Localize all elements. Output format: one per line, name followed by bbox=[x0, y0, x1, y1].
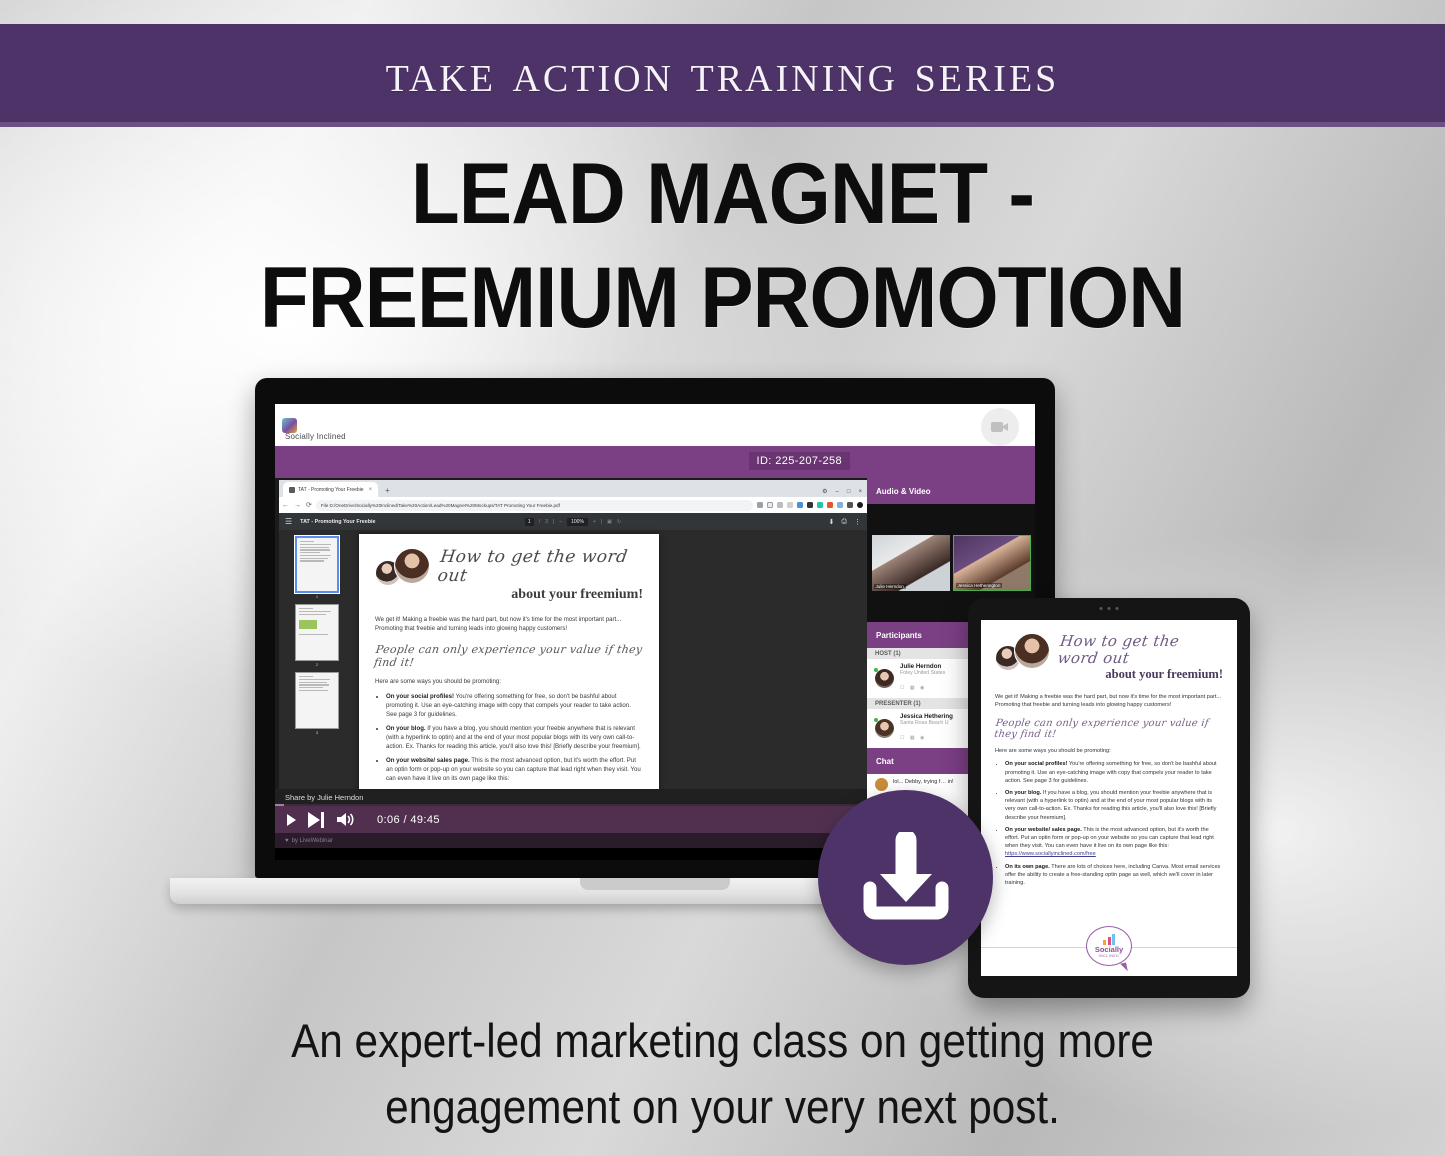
list-item: On your social profiles! You're offering… bbox=[386, 692, 643, 719]
next-track-icon[interactable] bbox=[308, 812, 325, 828]
window-controls[interactable]: ⚙ – □ × bbox=[822, 488, 862, 495]
brand-logo-icon bbox=[282, 418, 297, 433]
laptop-notch bbox=[580, 878, 730, 890]
zoom-out-button[interactable]: − bbox=[559, 519, 562, 525]
bullet-lead: On your blog. bbox=[386, 725, 426, 732]
tablet-camera-dots bbox=[1100, 607, 1119, 610]
download-icon[interactable]: ⬇ bbox=[829, 518, 835, 526]
document-headline-bold: about your freemium! bbox=[1059, 667, 1223, 682]
pdf-thumbnail-item[interactable]: 2 bbox=[295, 604, 339, 667]
player-footer-label: by LiveWebinar bbox=[292, 838, 333, 844]
avatar bbox=[875, 669, 894, 688]
rotate-icon[interactable]: ↻ bbox=[617, 519, 621, 525]
audio-video-panel-header: Audio & Video bbox=[867, 478, 1035, 504]
subtitle-line-2: engagement on your very next post. bbox=[72, 1074, 1373, 1140]
pdf-divider: | bbox=[553, 519, 554, 525]
bullet-lead: On your social profiles! bbox=[386, 693, 454, 700]
avatar bbox=[1014, 633, 1050, 669]
pdf-page-separator: / bbox=[539, 519, 540, 525]
video-tile-name: Julie Herndon bbox=[874, 584, 906, 589]
player-footer: ♥ by LiveWebinar bbox=[275, 833, 867, 848]
chart-bars-icon bbox=[1103, 934, 1115, 945]
pdf-thumbnail-page-3[interactable] bbox=[295, 672, 339, 729]
document-headline-bold: about your freemium! bbox=[439, 587, 643, 603]
document-intro: We get it! Making a freebie was the hard… bbox=[375, 615, 643, 633]
document-headline-script: How to get the word out bbox=[1057, 633, 1226, 667]
play-icon[interactable] bbox=[287, 814, 296, 826]
audio-video-panel-title: Audio & Video bbox=[876, 487, 931, 496]
extension-icon-6[interactable] bbox=[817, 502, 823, 508]
freebie-link[interactable]: https://www.sociallyinclined.com/free bbox=[1005, 851, 1096, 857]
back-arrow-icon[interactable]: ← bbox=[282, 502, 289, 509]
heart-icon: ♥ bbox=[285, 838, 289, 844]
banner-title: Take Action Training Series bbox=[386, 42, 1060, 104]
pdf-thumbnail-item[interactable]: 3 bbox=[295, 672, 339, 735]
pdf-current-page[interactable]: 1 bbox=[525, 518, 534, 526]
reload-icon[interactable]: ⟳ bbox=[306, 501, 312, 509]
zoom-in-button[interactable]: + bbox=[593, 519, 596, 525]
pdf-divider-2: | bbox=[601, 519, 602, 525]
tablet-document-page: How to get the word out about your freem… bbox=[981, 620, 1237, 976]
forward-arrow-icon[interactable]: → bbox=[294, 502, 301, 509]
list-item: On your website/ sales page. This is the… bbox=[1005, 826, 1223, 859]
extension-icons[interactable] bbox=[757, 502, 863, 508]
page-subtitle: An expert-led marketing class on getting… bbox=[72, 1008, 1373, 1140]
webinar-topbar: Socially Inclined bbox=[275, 404, 1035, 446]
browser-urlbar: ← → ⟳ File D:/OneDrive/Socially%20Inclin… bbox=[279, 497, 867, 513]
tablet-mockup: How to get the word out about your freem… bbox=[968, 598, 1250, 998]
list-item: On your social profiles! You're offering… bbox=[1005, 760, 1223, 785]
promo-graphic: Take Action Training Series LEAD MAGNET … bbox=[0, 0, 1445, 1156]
document-intro: We get it! Making a freebie was the hard… bbox=[995, 693, 1223, 709]
pdf-document-title: TAT - Promoting Your Freebie bbox=[300, 519, 375, 525]
subtitle-line-1: An expert-led marketing class on getting… bbox=[72, 1008, 1373, 1074]
bullet-lead: On your social profiles! bbox=[1005, 761, 1067, 767]
page-title: LEAD MAGNET - FREEMIUM PROMOTION bbox=[51, 142, 1395, 350]
extension-icon-9[interactable] bbox=[847, 502, 853, 508]
logo-tagline: INCLINED bbox=[1099, 954, 1120, 958]
document-script-line: People can only experience your value if… bbox=[993, 718, 1224, 740]
pdf-total-pages: 3 bbox=[545, 519, 548, 525]
list-item: On your website/ sales page. This is the… bbox=[386, 756, 643, 783]
logo-name: Socially bbox=[1095, 946, 1123, 954]
minimize-icon[interactable]: – bbox=[836, 489, 839, 495]
document-headline-script: How to get the word out bbox=[436, 548, 645, 586]
player-timestamp: 0:06 / 49:45 bbox=[377, 814, 440, 826]
browser-tabbar: TAT - Promoting Your Freebie × + ⚙ – □ × bbox=[279, 480, 867, 497]
list-item: On your blog. If you have a blog, you sh… bbox=[386, 724, 643, 751]
fit-page-icon[interactable]: ▣ bbox=[607, 519, 612, 525]
author-avatars bbox=[995, 633, 1051, 677]
list-item: On its own page. There are lots of choic… bbox=[1005, 863, 1223, 888]
avatar bbox=[875, 778, 888, 791]
browser-tab[interactable]: TAT - Promoting Your Freebie × bbox=[283, 482, 378, 497]
player-controls: 0:06 / 49:45 bbox=[275, 806, 867, 833]
browser-nav-buttons[interactable]: ← → ⟳ bbox=[282, 501, 312, 509]
document-header: How to get the word out about your freem… bbox=[995, 633, 1223, 682]
bullet-lead: On your website/ sales page. bbox=[386, 757, 470, 764]
bullet-lead: On your blog. bbox=[1005, 790, 1041, 796]
bookmark-icon[interactable] bbox=[757, 502, 763, 508]
browser-tab-label: TAT - Promoting Your Freebie bbox=[298, 487, 364, 493]
maximize-icon[interactable]: □ bbox=[847, 489, 851, 495]
participant-location: Foley United States bbox=[900, 670, 945, 676]
pdf-page-controls: 1 / 3 | − 100% + | ▣ ↻ bbox=[525, 518, 621, 526]
favicon-icon bbox=[289, 487, 295, 493]
extension-icon-2[interactable] bbox=[777, 502, 783, 508]
pdf-thumbnail-item[interactable]: 1 bbox=[295, 536, 339, 599]
document-lead-in: Here are some ways you should be promoti… bbox=[375, 678, 643, 685]
webinar-purple-bar bbox=[275, 446, 1035, 478]
header-banner: Take Action Training Series bbox=[0, 24, 1445, 122]
document-bullet-list: On your social profiles! You're offering… bbox=[386, 692, 643, 783]
bullet-lead: On its own page. bbox=[1005, 864, 1050, 870]
download-badge[interactable] bbox=[818, 790, 993, 965]
volume-icon[interactable] bbox=[337, 812, 355, 827]
extension-icon-8[interactable] bbox=[837, 502, 843, 508]
avatar bbox=[394, 548, 430, 584]
bullet-lead: On your website/ sales page. bbox=[1005, 827, 1082, 833]
author-avatars bbox=[375, 548, 431, 592]
brand-logo-label: Socially Inclined bbox=[285, 432, 346, 441]
more-options-icon[interactable]: ⋮ bbox=[854, 518, 861, 526]
document-bullet-list: On your social profiles! You're offering… bbox=[1005, 760, 1223, 887]
pdf-thumbnail-page-2[interactable] bbox=[295, 604, 339, 661]
participant-name: Jessica Hethering bbox=[900, 713, 953, 720]
participant-status-icons: ☐ ▦ ◉ bbox=[900, 735, 926, 741]
list-item: On your blog. If you have a blog, you sh… bbox=[1005, 789, 1223, 822]
title-line-1: LEAD MAGNET - bbox=[51, 142, 1395, 246]
participants-panel-title: Participants bbox=[876, 631, 922, 640]
close-tab-icon[interactable]: × bbox=[369, 487, 373, 493]
pdf-toolbar: ☰ TAT - Promoting Your Freebie 1 / 3 | −… bbox=[279, 513, 867, 530]
pdf-thumbnail-number: 2 bbox=[295, 662, 339, 667]
video-tile[interactable]: Jessica Hetherington bbox=[953, 535, 1031, 591]
document-lead-in: Here are some ways you should be promoti… bbox=[995, 748, 1223, 754]
pdf-thumbnail-page-1[interactable] bbox=[295, 536, 339, 593]
player-black-bar bbox=[275, 848, 867, 860]
close-window-icon[interactable]: × bbox=[858, 489, 862, 495]
sidebar-toggle-icon[interactable]: ☰ bbox=[285, 517, 292, 526]
print-icon[interactable]: ⎙ bbox=[841, 518, 847, 526]
brand-logo bbox=[282, 418, 297, 433]
camera-icon[interactable] bbox=[981, 408, 1019, 446]
extension-icon-5[interactable] bbox=[807, 502, 813, 508]
participant-location: Santa Rosa Beach U bbox=[900, 720, 953, 726]
extension-icon-7[interactable] bbox=[827, 502, 833, 508]
video-tile-name: Jessica Hetherington bbox=[956, 583, 1003, 588]
document-script-line: People can only experience your value if… bbox=[373, 643, 645, 669]
settings-icon[interactable]: ⚙ bbox=[822, 488, 827, 495]
pdf-thumbnail-number: 1 bbox=[295, 594, 339, 599]
participant-name: Julie Herndon bbox=[900, 663, 945, 670]
logo-bubble-icon: Socially INCLINED bbox=[1086, 926, 1132, 966]
extension-icon-3[interactable] bbox=[787, 502, 793, 508]
participant-status-icons: ☐ ▦ ◉ bbox=[900, 685, 926, 691]
profile-avatar-icon[interactable] bbox=[857, 502, 863, 508]
meeting-id: ID: 225-207-258 bbox=[749, 452, 851, 470]
chat-panel-title: Chat bbox=[876, 757, 894, 766]
tablet-screen: How to get the word out about your freem… bbox=[981, 620, 1237, 976]
pdf-thumbnail-number: 3 bbox=[295, 730, 339, 735]
extension-icon-4[interactable] bbox=[797, 502, 803, 508]
extension-icon-1[interactable] bbox=[767, 502, 773, 508]
banner-underline bbox=[0, 122, 1445, 127]
avatar bbox=[875, 719, 894, 738]
pdf-zoom-level[interactable]: 100% bbox=[567, 518, 588, 526]
video-tile[interactable]: Julie Herndon bbox=[872, 535, 950, 591]
document-header: How to get the word out about your freem… bbox=[375, 548, 643, 603]
download-icon bbox=[858, 832, 954, 924]
title-line-2: FREEMIUM PROMOTION bbox=[51, 246, 1395, 350]
pdf-actions: ⬇ ⎙ ⋮ bbox=[829, 518, 861, 526]
new-tab-button[interactable]: + bbox=[385, 486, 390, 495]
socially-inclined-logo: Socially INCLINED bbox=[1086, 926, 1132, 966]
url-input[interactable]: File D:/OneDrive/Socially%20Inclined/Tak… bbox=[316, 500, 753, 511]
